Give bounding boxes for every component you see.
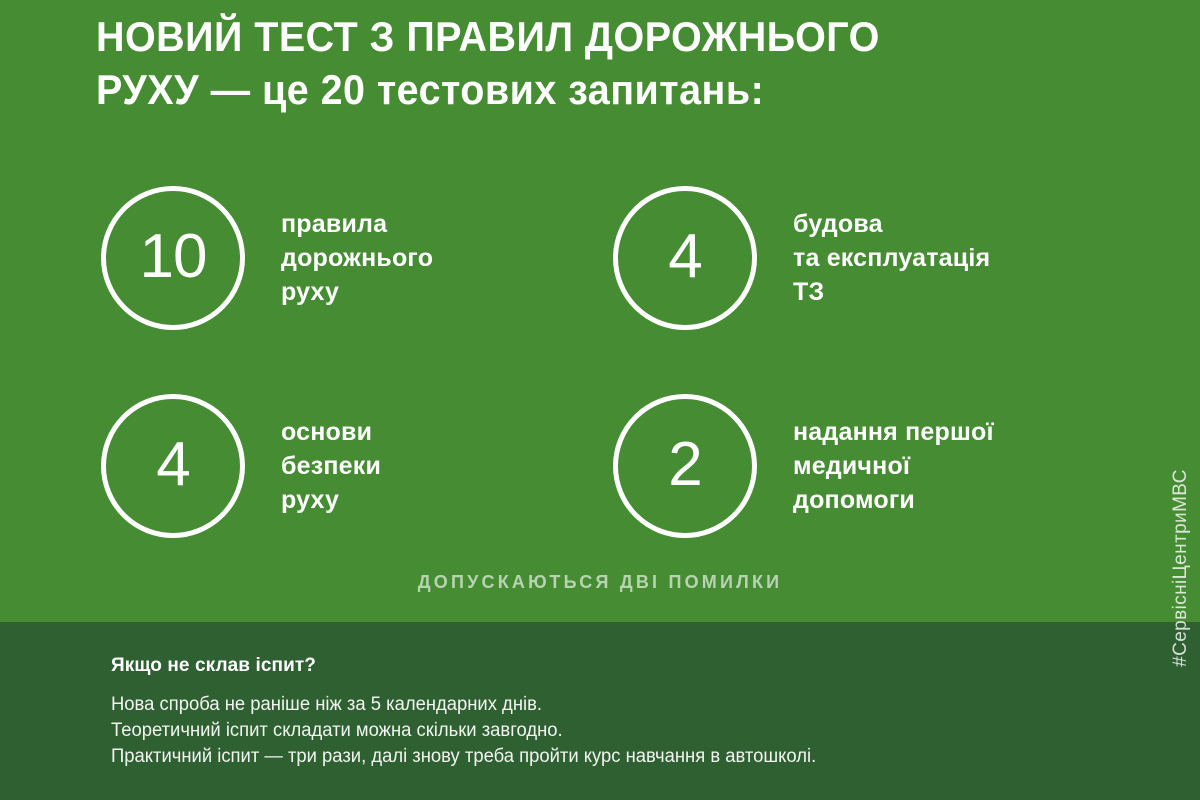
- allowed-mistakes-caption: допускаються дві помилки: [0, 572, 1200, 593]
- topic-label-line: медичної: [793, 449, 994, 483]
- topic-label-line: ТЗ: [793, 275, 990, 309]
- count-circle: 10: [101, 186, 245, 330]
- failed-exam-line: Практичний іспит — три рази, далі знову …: [111, 744, 1042, 770]
- title-line-2: РУХУ — це 20 тестових запитань:: [96, 63, 1017, 116]
- topic-label-line: руху: [281, 275, 433, 309]
- topic-row-2: 4 основи безпеки руху 2 надання першої м…: [0, 394, 1200, 602]
- topic-label-line: допомоги: [793, 483, 994, 517]
- topic-label: основи безпеки руху: [281, 415, 381, 517]
- topic-item-road-rules: 10 правила дорожнього руху: [101, 186, 621, 330]
- count-circle: 2: [613, 394, 757, 538]
- topic-label-line: руху: [281, 483, 381, 517]
- infographic-poster: НОВИЙ ТЕСТ З ПРАВИЛ ДОРОЖНЬОГО РУХУ — це…: [0, 0, 1200, 800]
- title-line-2-rest: — це 20 тестових запитань:: [211, 66, 765, 113]
- page-title: НОВИЙ ТЕСТ З ПРАВИЛ ДОРОЖНЬОГО РУХУ — це…: [96, 10, 1076, 116]
- topic-label-line: основи: [281, 415, 381, 449]
- title-line-1: НОВИЙ ТЕСТ З ПРАВИЛ ДОРОЖНЬОГО: [96, 10, 1017, 63]
- topic-item-vehicle-construction: 4 будова та експлуатація ТЗ: [613, 186, 1133, 330]
- failed-exam-section: Якщо не склав іспит? Нова спроба не рані…: [111, 653, 1071, 770]
- count-circle: 4: [613, 186, 757, 330]
- topic-item-first-aid: 2 надання першої медичної допомоги: [613, 394, 1133, 538]
- topic-label-line: будова: [793, 207, 990, 241]
- count-value: 2: [668, 434, 701, 496]
- count-value: 4: [156, 434, 189, 496]
- title-line-2-upper: РУХУ: [96, 66, 211, 113]
- topic-label-line: безпеки: [281, 449, 381, 483]
- topic-label: надання першої медичної допомоги: [793, 415, 994, 517]
- count-value: 4: [668, 226, 701, 288]
- count-value: 10: [140, 226, 207, 288]
- failed-exam-line: Нова спроба не раніше ніж за 5 календарн…: [111, 692, 1042, 718]
- topic-grid: 10 правила дорожнього руху 4 будова та е…: [0, 186, 1200, 602]
- topic-label-line: та експлуатація: [793, 241, 990, 275]
- topic-label-line: дорожнього: [281, 241, 433, 275]
- topic-label: будова та експлуатація ТЗ: [793, 207, 990, 309]
- topic-item-traffic-safety: 4 основи безпеки руху: [101, 394, 621, 538]
- failed-exam-heading: Якщо не склав іспит?: [111, 653, 1071, 679]
- topic-label-line: надання першої: [793, 415, 994, 449]
- topic-label-line: правила: [281, 207, 433, 241]
- count-circle: 4: [101, 394, 245, 538]
- failed-exam-line: Теоретичний іспит складати можна скільки…: [111, 718, 1042, 744]
- topic-label: правила дорожнього руху: [281, 207, 433, 309]
- topic-row-1: 10 правила дорожнього руху 4 будова та е…: [0, 186, 1200, 394]
